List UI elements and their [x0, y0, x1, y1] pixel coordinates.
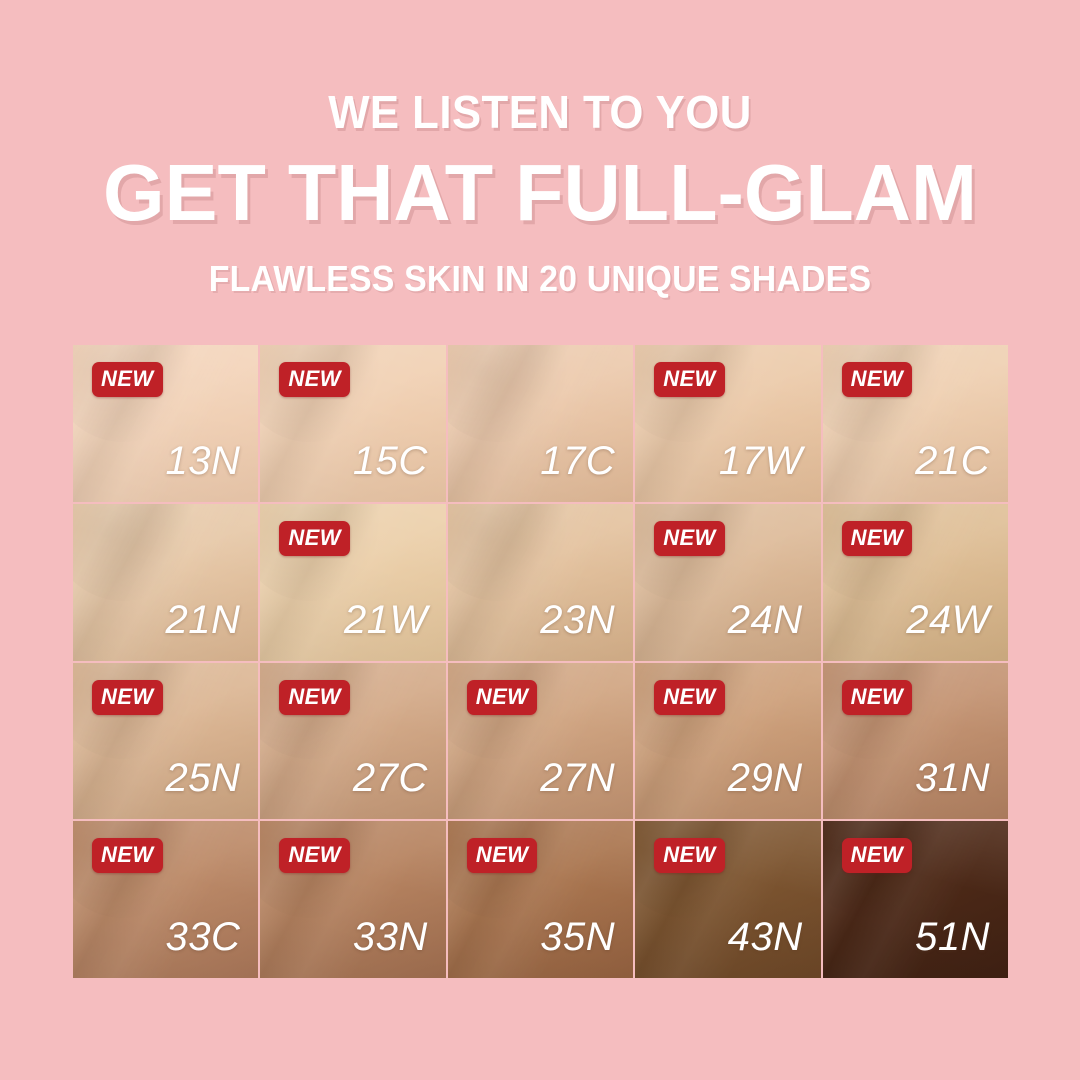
shade-swatch-43n[interactable]: NEW43N [635, 821, 820, 978]
new-badge: NEW [279, 362, 350, 397]
new-badge: NEW [842, 362, 913, 397]
shade-swatch-51n[interactable]: NEW51N [823, 821, 1008, 978]
shade-code-label: 27N [540, 757, 615, 799]
new-badge: NEW [279, 521, 350, 556]
new-badge: NEW [467, 838, 538, 873]
new-badge: NEW [842, 521, 913, 556]
shade-swatch-27c[interactable]: NEW27C [260, 663, 445, 820]
new-badge: NEW [654, 680, 725, 715]
shade-code-label: 15C [353, 440, 428, 482]
shade-swatch-31n[interactable]: NEW31N [823, 663, 1008, 820]
shade-swatch-23n[interactable]: 23N [448, 504, 633, 661]
shade-swatch-21c[interactable]: NEW21C [823, 345, 1008, 502]
new-badge: NEW [654, 521, 725, 556]
shade-swatch-17c[interactable]: 17C [448, 345, 633, 502]
shade-code-label: 24W [906, 599, 990, 641]
shade-code-label: 24N [728, 599, 803, 641]
shade-swatch-21n[interactable]: 21N [73, 504, 258, 661]
shade-swatch-25n[interactable]: NEW25N [73, 663, 258, 820]
shade-swatch-21w[interactable]: NEW21W [260, 504, 445, 661]
shade-code-label: 29N [728, 757, 803, 799]
new-badge: NEW [842, 838, 913, 873]
shade-code-label: 27C [353, 757, 428, 799]
shade-swatch-24w[interactable]: NEW24W [823, 504, 1008, 661]
heading-block: WE LISTEN TO YOU GET THAT FULL-GLAM FLAW… [0, 0, 1080, 300]
shade-code-label: 21C [915, 440, 990, 482]
shade-swatch-17w[interactable]: NEW17W [635, 345, 820, 502]
shade-code-label: 35N [540, 916, 615, 958]
shade-swatch-29n[interactable]: NEW29N [635, 663, 820, 820]
shade-code-label: 23N [540, 599, 615, 641]
new-badge: NEW [842, 680, 913, 715]
shade-code-label: 33N [353, 916, 428, 958]
shade-swatch-33c[interactable]: NEW33C [73, 821, 258, 978]
new-badge: NEW [279, 680, 350, 715]
shade-code-label: 13N [166, 440, 241, 482]
shade-code-label: 51N [915, 916, 990, 958]
subline-text: FLAWLESS SKIN IN 20 UNIQUE SHADES [32, 258, 1047, 300]
headline-text: GET THAT FULL-GLAM [5, 150, 1074, 236]
shade-code-label: 17C [540, 440, 615, 482]
shade-code-label: 21N [166, 599, 241, 641]
shade-swatch-35n[interactable]: NEW35N [448, 821, 633, 978]
shade-swatch-15c[interactable]: NEW15C [260, 345, 445, 502]
shade-code-label: 43N [728, 916, 803, 958]
shade-code-label: 21W [344, 599, 428, 641]
shade-code-label: 31N [915, 757, 990, 799]
new-badge: NEW [279, 838, 350, 873]
shade-swatch-13n[interactable]: NEW13N [73, 345, 258, 502]
new-badge: NEW [92, 680, 163, 715]
new-badge: NEW [654, 838, 725, 873]
new-badge: NEW [467, 680, 538, 715]
new-badge: NEW [654, 362, 725, 397]
new-badge: NEW [92, 362, 163, 397]
shade-code-label: 33C [166, 916, 241, 958]
new-badge: NEW [92, 838, 163, 873]
shade-swatch-27n[interactable]: NEW27N [448, 663, 633, 820]
promo-canvas: WE LISTEN TO YOU GET THAT FULL-GLAM FLAW… [0, 0, 1080, 1080]
shade-grid: NEW13NNEW15C17CNEW17WNEW21C21NNEW21W23NN… [73, 345, 1008, 978]
eyebrow-text: WE LISTEN TO YOU [27, 86, 1053, 138]
shade-code-label: 17W [719, 440, 803, 482]
shade-swatch-33n[interactable]: NEW33N [260, 821, 445, 978]
shade-code-label: 25N [166, 757, 241, 799]
shade-swatch-24n[interactable]: NEW24N [635, 504, 820, 661]
